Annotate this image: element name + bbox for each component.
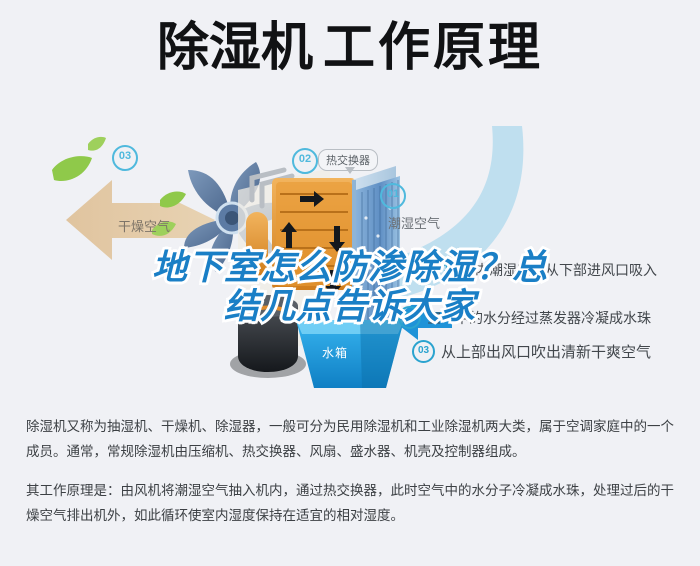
page-title-part1: 除湿机 (157, 19, 313, 77)
page-header: 除湿机工作原理 (0, 22, 700, 74)
caption-text-03: 从上部出风口吹出清新干爽空气 (441, 341, 651, 362)
caption-badge-03: 03 (412, 340, 435, 363)
label-humid-air: 潮湿空气 (388, 213, 440, 232)
overlay-headline-line2: 结几点告诉大家 (0, 287, 700, 326)
overlay-headline-line1: 地下室怎么防渗除湿？总 (0, 248, 700, 287)
overlay-headline: 地下室怎么防渗除湿？总 结几点告诉大家 (0, 248, 700, 326)
caption-step-03: 03 从上部出风口吹出清新干爽空气 (412, 340, 651, 363)
callout-pointer-icon (345, 167, 355, 174)
page-root: 除湿机工作原理 (0, 0, 700, 566)
label-water-tank: 水箱 (322, 344, 348, 361)
page-title-part2: 工作原理 (323, 19, 543, 77)
badge-step-03: 03 (112, 145, 138, 171)
water-tank (296, 320, 404, 388)
article-body: 除湿机又称为抽湿机、干燥机、除湿器，一般可分为民用除湿机和工业除湿机两大类，属于… (26, 414, 678, 542)
label-dry-air: 干燥空气 (118, 216, 170, 235)
page-title: 除湿机工作原理 (157, 22, 543, 74)
body-paragraph-1: 除湿机又称为抽湿机、干燥机、除湿器，一般可分为民用除湿机和工业除湿机两大类，属于… (26, 414, 678, 464)
badge-step-01: 01 (380, 183, 406, 209)
badge-step-02: 02 (292, 148, 318, 174)
body-paragraph-2: 其工作原理是：由风机将潮湿空气抽入机内，通过热交换器，此时空气中的水分子冷凝成水… (26, 478, 678, 528)
